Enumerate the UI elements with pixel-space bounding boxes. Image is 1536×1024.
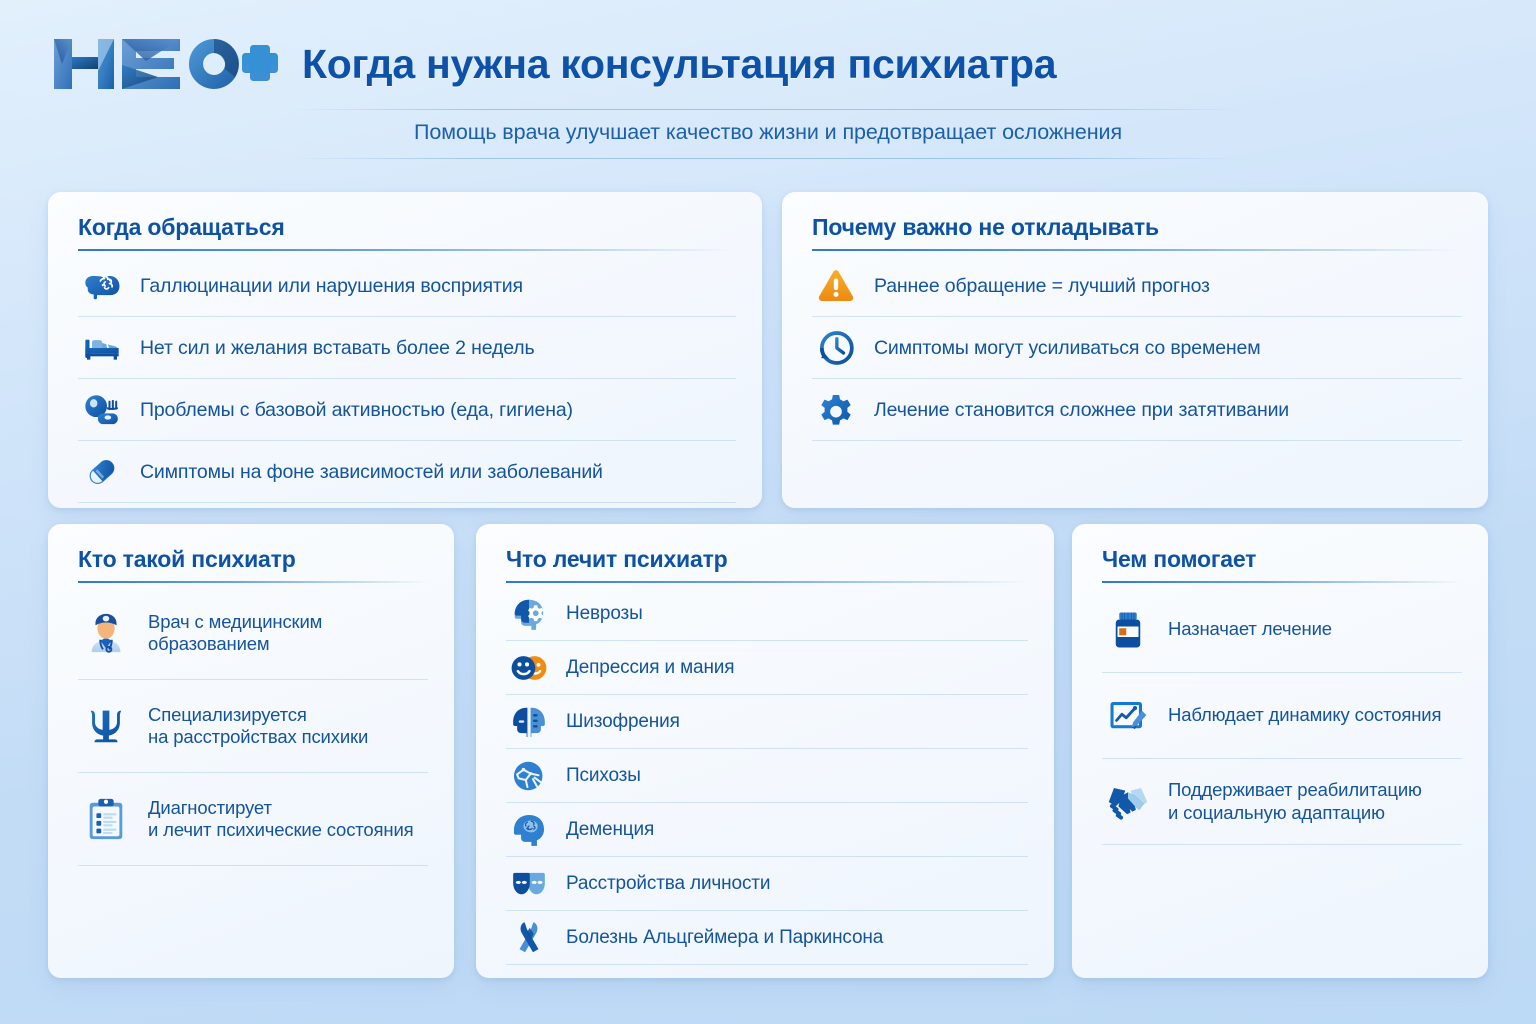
subtitle-rule-bottom — [290, 158, 1246, 159]
gear-icon — [812, 390, 860, 430]
list-item-label: Нет сил и желания вставать более 2 недел… — [140, 336, 534, 360]
masks-icon — [506, 865, 552, 903]
list-item-label: Симптомы могут усиливаться со временем — [874, 336, 1260, 360]
capsule-icon — [78, 452, 126, 492]
card-when-title-rule — [78, 249, 736, 251]
card-who-title: Кто такой психиатр — [78, 546, 428, 572]
handshake-icon — [1102, 781, 1154, 823]
list-item[interactable]: Врач с медицинскимобразованием — [78, 587, 428, 680]
bed-icon — [78, 328, 126, 368]
card-helps-title-rule — [1102, 581, 1462, 583]
list-item-label: Лечение становится сложнее при затятиван… — [874, 398, 1289, 422]
neo-plus-logo — [48, 31, 280, 97]
clipboard-icon — [78, 796, 134, 842]
tangled-mind-icon — [506, 757, 552, 795]
list-item[interactable]: Болезнь Альцгеймера и Паркинсона — [506, 911, 1028, 965]
card-who: Кто такой психиатрВрач с медицинскимобра… — [48, 524, 454, 978]
list-item[interactable]: Депрессия и мания — [506, 641, 1028, 695]
split-head-icon — [506, 703, 552, 741]
list-item[interactable]: Специализируетсяна расстройствах психики — [78, 680, 428, 773]
list-item[interactable]: Симптомы могут усиливаться со временем — [812, 317, 1462, 379]
list-item-label: Деменция — [566, 818, 654, 842]
card-treats-rows: НеврозыДепрессия и манияШизофренияПсихоз… — [506, 587, 1028, 965]
card-who-title-rule — [78, 581, 428, 583]
subtitle-wrap: Помощь врача улучшает качество жизни и п… — [0, 120, 1536, 145]
chart-monitor-icon — [1102, 695, 1154, 737]
card-treats: Что лечит психиатрНеврозыДепрессия и ман… — [476, 524, 1054, 978]
list-item[interactable]: Галлюцинации или нарушения восприятия — [78, 255, 736, 317]
list-item[interactable]: Деменция — [506, 803, 1028, 857]
list-item[interactable]: Назначает лечение — [1102, 587, 1462, 673]
card-why-rows: Раннее обращение = лучший прогнозСимптом… — [812, 255, 1462, 441]
two-faces-icon — [506, 649, 552, 687]
list-item-label: Депрессия и мания — [566, 656, 734, 680]
list-item-label: Диагностируети лечит психические состоян… — [148, 797, 414, 843]
page-subtitle: Помощь врача улучшает качество жизни и п… — [414, 120, 1122, 145]
page-header: Когда нужна консультация психиатра Помощ… — [0, 0, 1536, 145]
list-item[interactable]: Поддерживает реабилитациюи социальную ад… — [1102, 759, 1462, 845]
list-item[interactable]: Симптомы на фоне зависимостей или заболе… — [78, 441, 736, 503]
list-item[interactable]: Лечение становится сложнее при затятиван… — [812, 379, 1462, 441]
card-treats-title: Что лечит психиатр — [506, 546, 1028, 572]
list-item-label: Болезнь Альцгеймера и Паркинсона — [566, 926, 883, 950]
brain-icon — [78, 266, 126, 306]
subtitle-rule-top — [290, 109, 1246, 110]
card-why: Почему важно не откладыватьРаннее обраще… — [782, 192, 1488, 508]
list-item-label: Врач с медицинскимобразованием — [148, 611, 322, 657]
list-item[interactable]: Шизофрения — [506, 695, 1028, 749]
card-helps: Чем помогаетНазначает лечениеНаблюдает д… — [1072, 524, 1488, 978]
list-item[interactable]: Неврозы — [506, 587, 1028, 641]
warning-triangle-icon — [812, 266, 860, 306]
card-who-rows: Врач с медицинскимобразованиемСпециализи… — [78, 587, 428, 866]
list-item[interactable]: Психозы — [506, 749, 1028, 803]
list-item-label: Проблемы с базовой активностью (еда, гиг… — [140, 398, 573, 422]
list-item-label: Психозы — [566, 764, 641, 788]
card-helps-rows: Назначает лечениеНаблюдает динамику сост… — [1102, 587, 1462, 845]
card-treats-title-rule — [506, 581, 1028, 583]
doctor-icon — [78, 610, 134, 656]
list-item-label: Симптомы на фоне зависимостей или заболе… — [140, 460, 603, 484]
list-item-label: Расстройства личности — [566, 872, 770, 896]
list-item-label: Раннее обращение = лучший прогноз — [874, 274, 1210, 298]
list-item[interactable]: Расстройства личности — [506, 857, 1028, 911]
list-item-label: Неврозы — [566, 602, 643, 626]
card-why-title: Почему важно не откладывать — [812, 214, 1462, 240]
ribbon-icon — [506, 919, 552, 957]
brand-row: Когда нужна консультация психиатра — [0, 26, 1536, 102]
card-helps-title: Чем помогает — [1102, 546, 1462, 572]
card-when-rows: Галлюцинации или нарушения восприятияНет… — [78, 255, 736, 503]
card-when-title: Когда обращаться — [78, 214, 736, 240]
list-item-label: Специализируетсяна расстройствах психики — [148, 704, 368, 750]
self-care-icon — [78, 390, 126, 430]
list-item[interactable]: Диагностируети лечит психические состоян… — [78, 773, 428, 866]
list-item-label: Наблюдает динамику состояния — [1168, 704, 1441, 727]
list-item[interactable]: Проблемы с базовой активностью (еда, гиг… — [78, 379, 736, 441]
card-when: Когда обращатьсяГаллюцинации или нарушен… — [48, 192, 762, 508]
list-item[interactable]: Раннее обращение = лучший прогноз — [812, 255, 1462, 317]
psi-icon — [78, 703, 134, 749]
card-why-title-rule — [812, 249, 1462, 251]
list-item[interactable]: Наблюдает динамику состояния — [1102, 673, 1462, 759]
head-brain-icon — [506, 811, 552, 849]
page-title: Когда нужна консультация психиатра — [302, 44, 1056, 85]
list-item-label: Галлюцинации или нарушения восприятия — [140, 274, 523, 298]
list-item-label: Назначает лечение — [1168, 618, 1332, 641]
list-item[interactable]: Нет сил и желания вставать более 2 недел… — [78, 317, 736, 379]
list-item-label: Поддерживает реабилитациюи социальную ад… — [1168, 779, 1422, 825]
pill-bottle-icon — [1102, 609, 1154, 651]
list-item-label: Шизофрения — [566, 710, 680, 734]
clock-icon — [812, 328, 860, 368]
head-gear-icon — [506, 595, 552, 633]
